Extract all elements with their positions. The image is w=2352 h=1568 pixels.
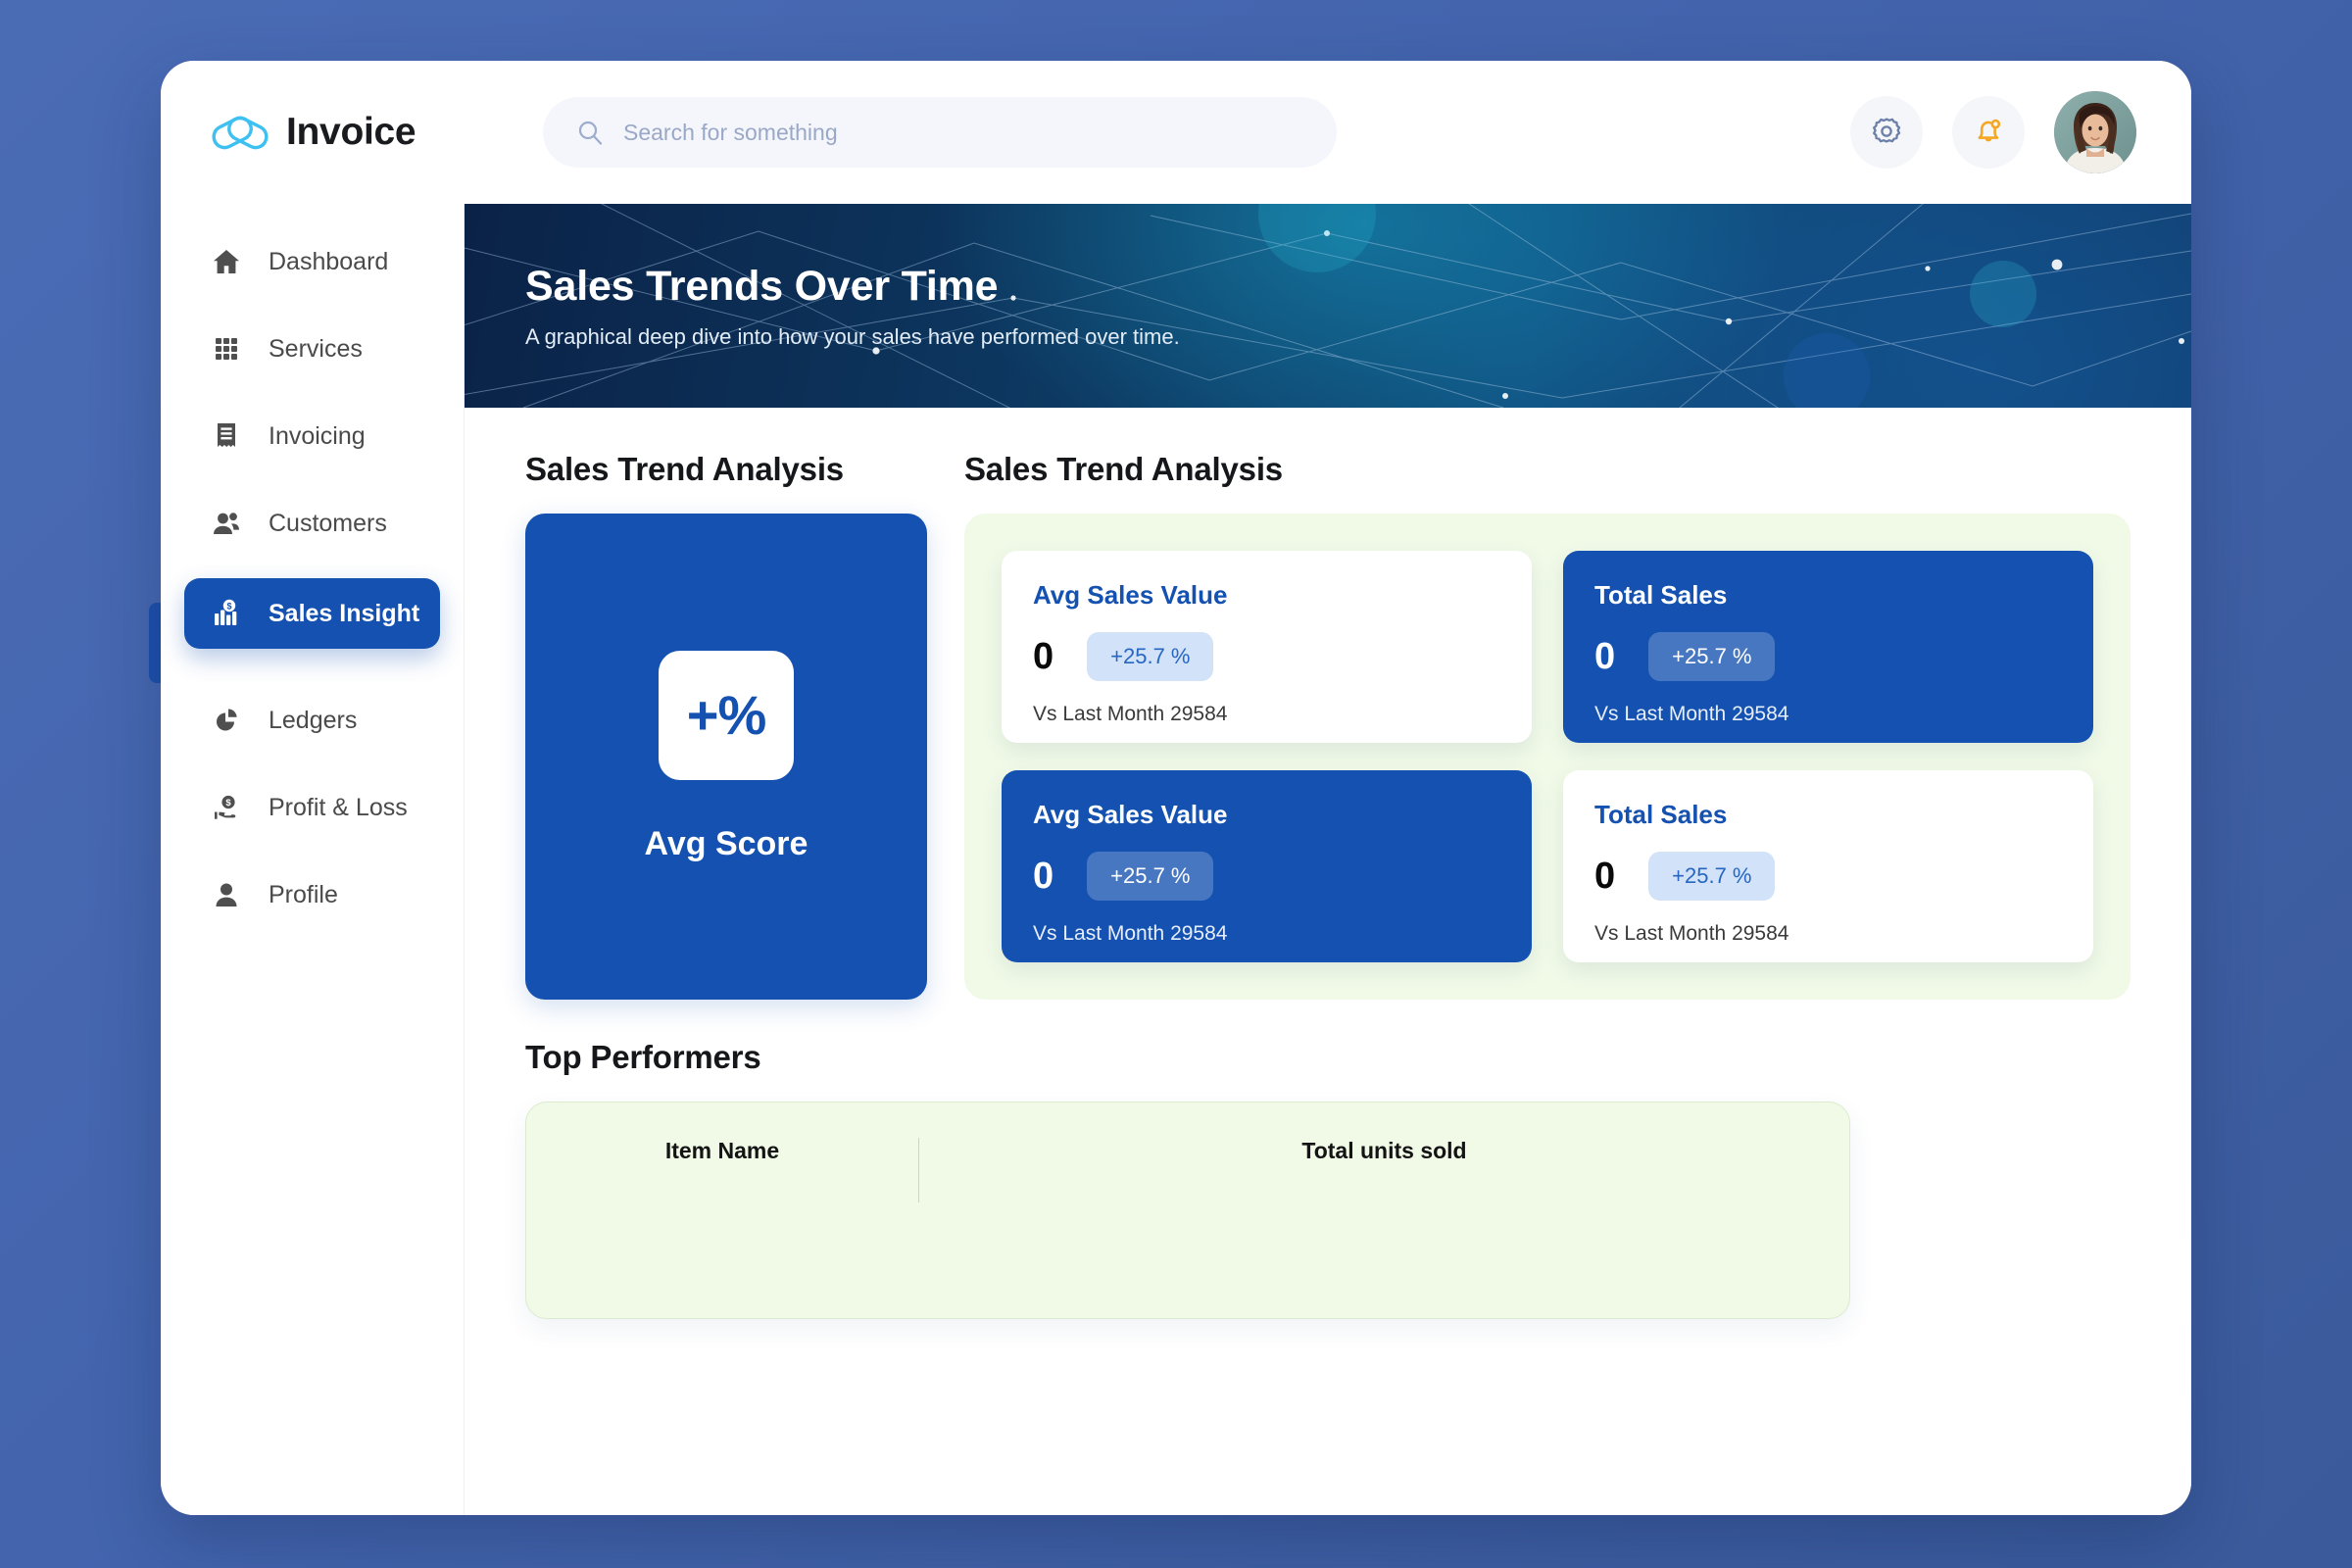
home-icon xyxy=(210,245,243,278)
top-performers-table: Item Name Total units sold xyxy=(525,1102,1850,1319)
stat-title: Avg Sales Value xyxy=(1033,800,1500,830)
stat-delta-badge: +25.7 % xyxy=(1648,852,1775,901)
stat-delta-badge: +25.7 % xyxy=(1648,632,1775,681)
sidebar-item-services[interactable]: Services xyxy=(184,317,440,381)
table-header-item-name: Item Name xyxy=(526,1138,918,1318)
right-section-title: Sales Trend Analysis xyxy=(964,451,2131,488)
sidebar-item-label: Services xyxy=(269,335,363,364)
bell-icon xyxy=(1971,114,2006,152)
brand[interactable]: Invoice xyxy=(202,110,506,155)
top-bar: Invoice xyxy=(161,61,2191,204)
stat-value: 0 xyxy=(1594,636,1615,678)
stat-value: 0 xyxy=(1594,856,1615,898)
stat-card-total-sales-1[interactable]: Total Sales 0 +25.7 % Vs Last Month 2958… xyxy=(1563,551,2093,743)
stat-mid: 0 +25.7 % xyxy=(1033,852,1500,901)
avg-score-label: Avg Score xyxy=(645,825,808,863)
analysis-row: Sales Trend Analysis +% Avg Score Sales … xyxy=(525,451,2131,1000)
sidebar-item-ledgers[interactable]: Ledgers xyxy=(184,688,440,753)
stat-title: Total Sales xyxy=(1594,800,2062,830)
hero-title: Sales Trends Over Time xyxy=(525,263,2191,311)
table-header-total-units-sold: Total units sold xyxy=(919,1138,1849,1318)
stat-card-avg-sales-value-2[interactable]: Avg Sales Value 0 +25.7 % Vs Last Month … xyxy=(1002,770,1532,962)
person-icon xyxy=(210,878,243,911)
sidebar-item-dashboard[interactable]: Dashboard xyxy=(184,229,440,294)
main-content: Sales Trends Over Time A graphical deep … xyxy=(465,204,2191,1515)
brand-name: Invoice xyxy=(286,111,416,154)
app-window: Invoice xyxy=(161,61,2191,1515)
sidebar-item-profit-loss[interactable]: $ Profit & Loss xyxy=(184,775,440,840)
stats-column: Sales Trend Analysis Avg Sales Value 0 +… xyxy=(964,451,2131,1000)
sidebar-item-label: Invoicing xyxy=(269,422,366,451)
stat-footer: Vs Last Month 29584 xyxy=(1033,922,1500,946)
hand-coin-icon: $ xyxy=(210,791,243,824)
avg-score-card[interactable]: +% Avg Score xyxy=(525,514,927,1000)
score-column: Sales Trend Analysis +% Avg Score xyxy=(525,451,927,1000)
svg-text:$: $ xyxy=(226,602,231,612)
sidebar-item-label: Ledgers xyxy=(269,707,357,735)
stat-title: Avg Sales Value xyxy=(1033,580,1500,611)
stat-title: Total Sales xyxy=(1594,580,2062,611)
stat-value: 0 xyxy=(1033,636,1053,678)
left-section-title: Sales Trend Analysis xyxy=(525,451,927,488)
top-actions xyxy=(1850,91,2136,173)
stat-mid: 0 +25.7 % xyxy=(1594,852,2062,901)
stat-footer: Vs Last Month 29584 xyxy=(1594,922,2062,946)
sidebar-item-label: Profit & Loss xyxy=(269,794,408,822)
sidebar-item-label: Sales Insight xyxy=(269,600,419,628)
stat-delta-badge: +25.7 % xyxy=(1087,852,1213,901)
sidebar-item-profile[interactable]: Profile xyxy=(184,862,440,927)
content-inner: Sales Trend Analysis +% Avg Score Sales … xyxy=(465,408,2191,1515)
stat-card-avg-sales-value-1[interactable]: Avg Sales Value 0 +25.7 % Vs Last Month … xyxy=(1002,551,1532,743)
sidebar: Dashboard Services xyxy=(161,204,465,1515)
sidebar-item-label: Dashboard xyxy=(269,248,388,276)
top-performers-title: Top Performers xyxy=(525,1039,2131,1076)
stat-footer: Vs Last Month 29584 xyxy=(1033,703,1500,726)
stat-footer: Vs Last Month 29584 xyxy=(1594,703,2062,726)
gear-icon xyxy=(1869,114,1904,152)
grid-icon xyxy=(210,332,243,366)
svg-text:$: $ xyxy=(225,798,231,808)
stat-mid: 0 +25.7 % xyxy=(1033,632,1500,681)
sidebar-item-sales-insight[interactable]: $ Sales Insight xyxy=(184,578,440,649)
search-bar[interactable] xyxy=(543,97,1337,168)
top-performers-section: Top Performers Item Name Total units sol… xyxy=(525,1039,2131,1319)
bar-chart-dollar-icon: $ xyxy=(210,597,243,630)
sidebar-item-label: Profile xyxy=(269,881,338,909)
interlocking-loops-logo-icon xyxy=(210,110,270,155)
notifications-button[interactable] xyxy=(1952,96,2025,169)
percent-plus-icon: +% xyxy=(659,651,794,780)
settings-button[interactable] xyxy=(1850,96,1923,169)
pie-chart-icon xyxy=(210,704,243,737)
receipt-icon xyxy=(210,419,243,453)
stat-card-total-sales-2[interactable]: Total Sales 0 +25.7 % Vs Last Month 2958… xyxy=(1563,770,2093,962)
stat-mid: 0 +25.7 % xyxy=(1594,632,2062,681)
hero-subtitle: A graphical deep dive into how your sale… xyxy=(525,324,2191,350)
avatar[interactable] xyxy=(2054,91,2136,173)
search-input[interactable] xyxy=(623,120,1303,146)
stat-delta-badge: +25.7 % xyxy=(1087,632,1213,681)
stat-value: 0 xyxy=(1033,856,1053,898)
hero-banner: Sales Trends Over Time A graphical deep … xyxy=(465,204,2191,408)
search-icon xyxy=(576,119,604,146)
people-icon xyxy=(210,507,243,540)
app-body: Dashboard Services xyxy=(161,204,2191,1515)
sidebar-item-invoicing[interactable]: Invoicing xyxy=(184,404,440,468)
stats-panel: Avg Sales Value 0 +25.7 % Vs Last Month … xyxy=(964,514,2131,1000)
sidebar-item-label: Customers xyxy=(269,510,387,538)
sidebar-item-customers[interactable]: Customers xyxy=(184,491,440,556)
